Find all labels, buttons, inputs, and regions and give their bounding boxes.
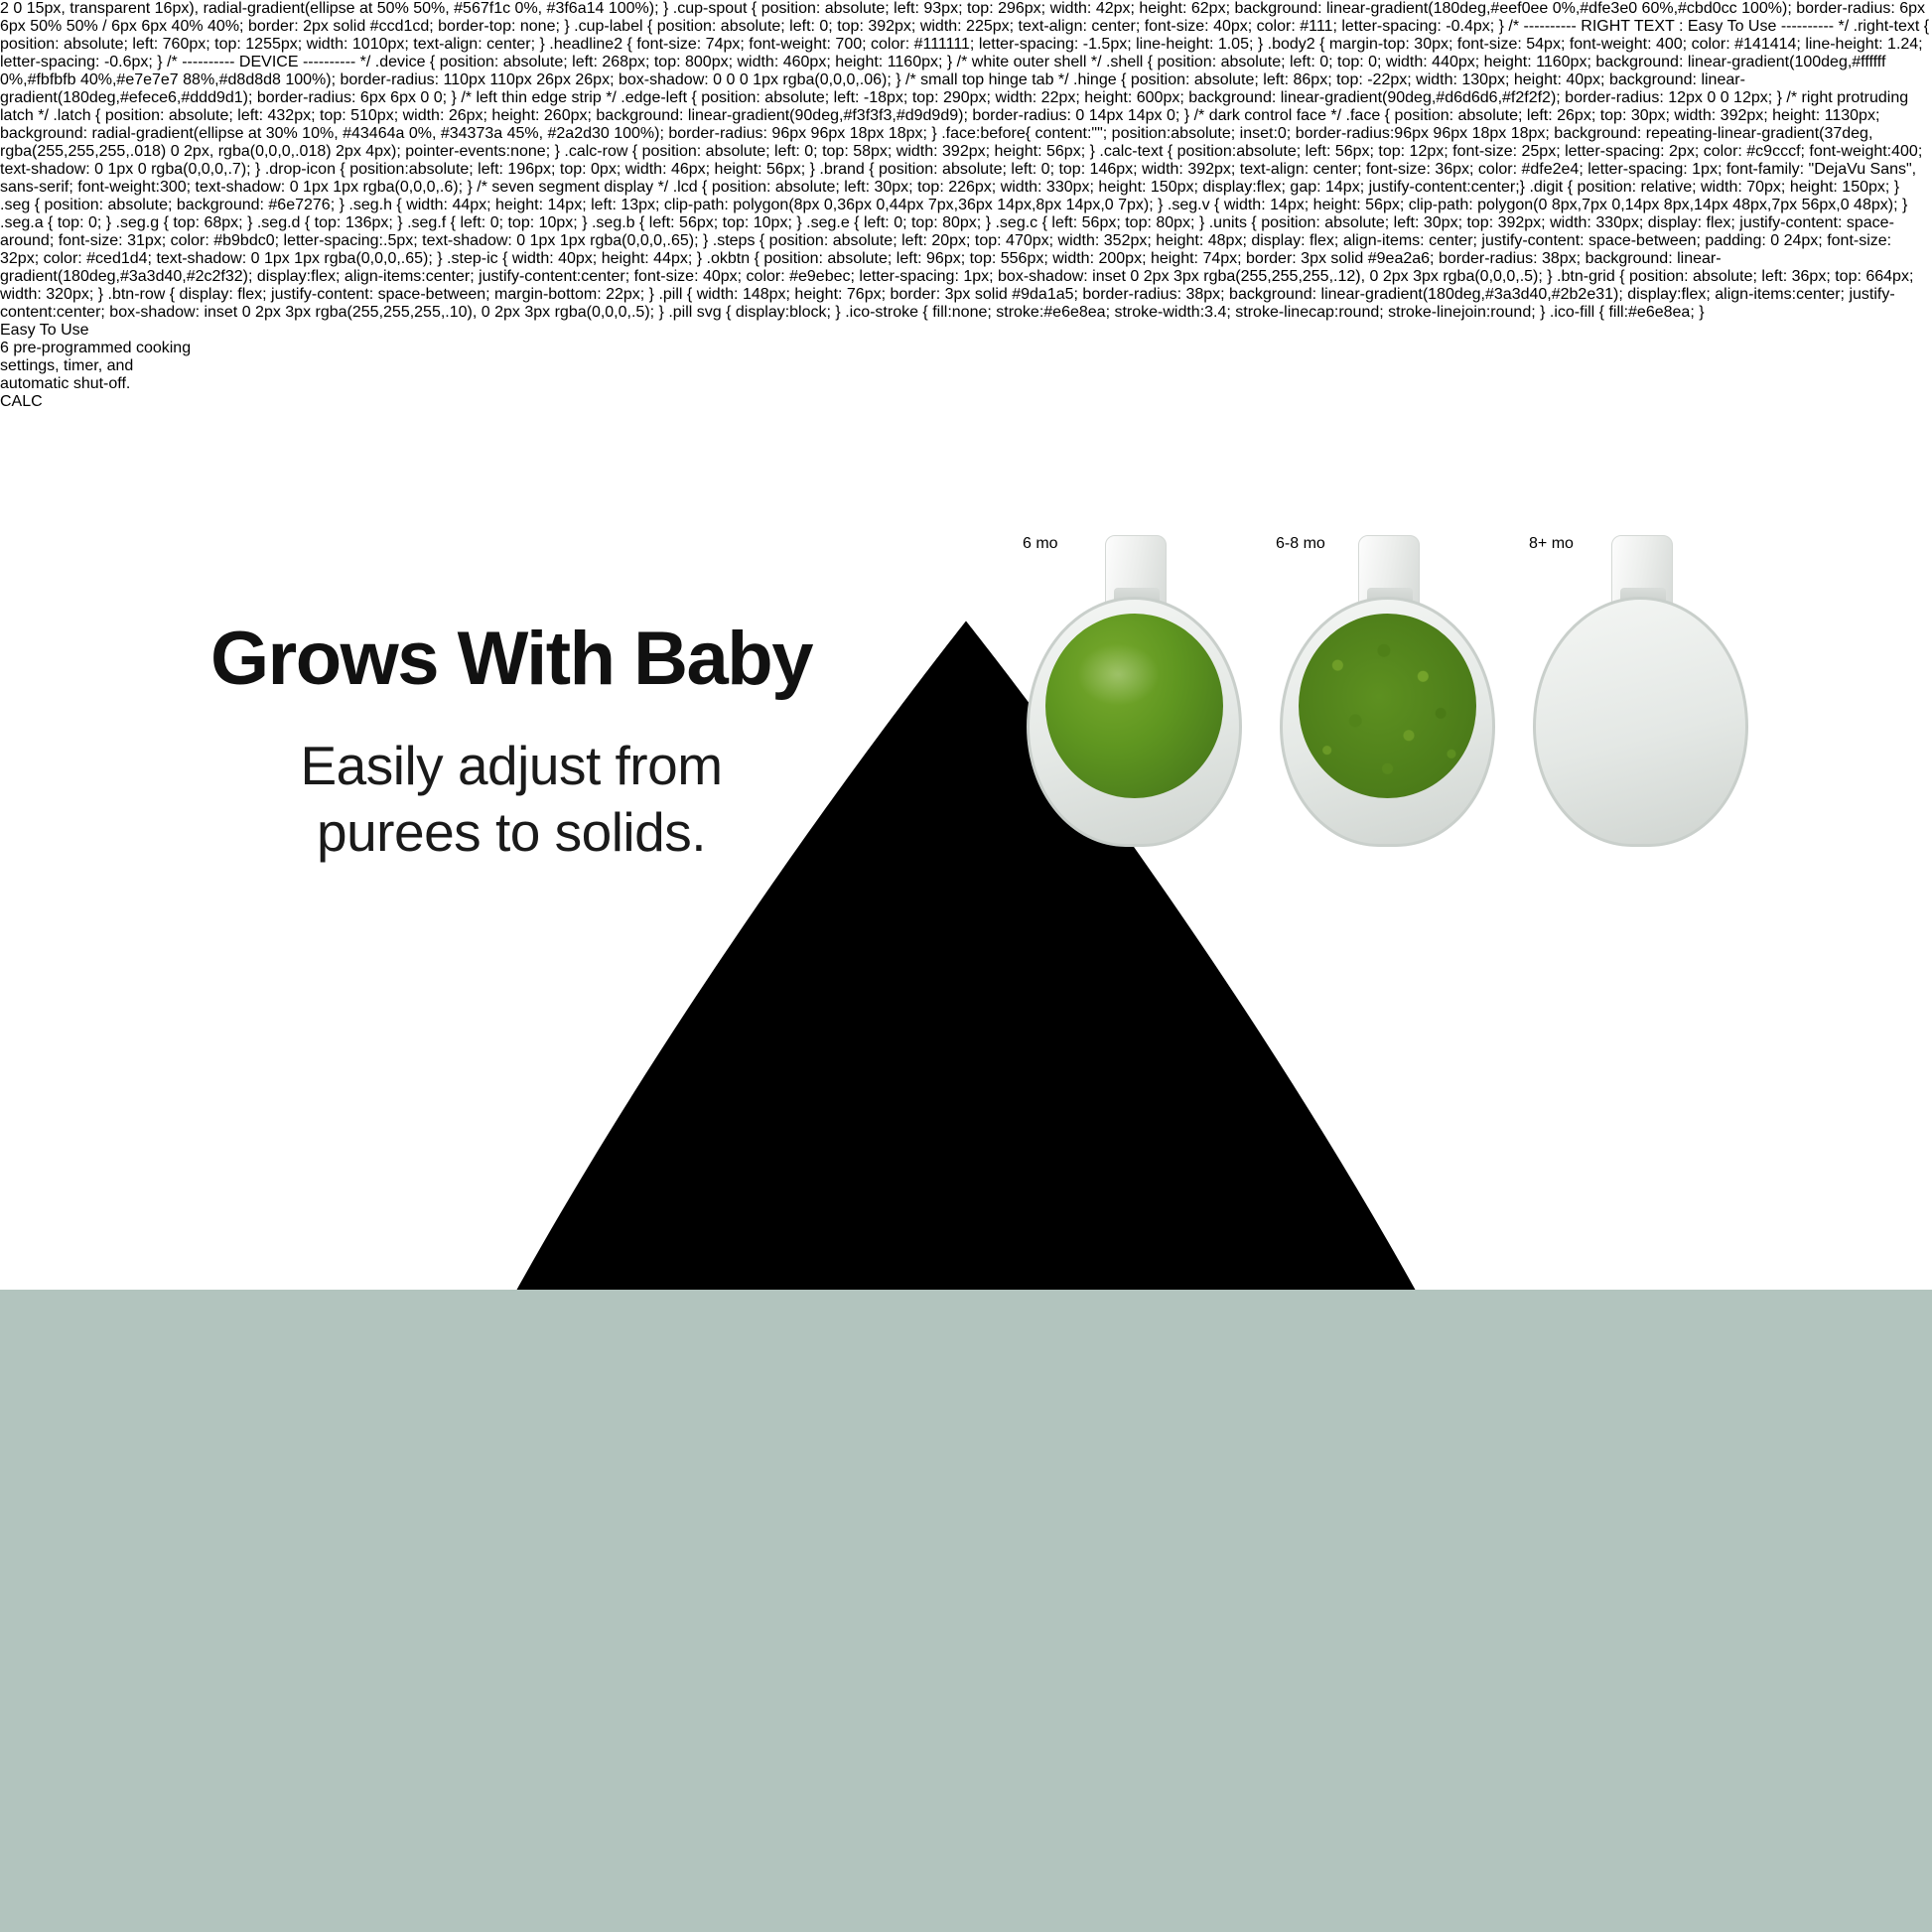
- cup-6-8mo: 6-8 mo: [1276, 535, 1499, 932]
- calc-label: CALC: [0, 393, 1932, 411]
- food-texture-chunky: [1552, 614, 1729, 798]
- cup-8plus-mo: 8+ mo: [1529, 535, 1752, 932]
- subhead-line-1: Easily adjust from: [129, 733, 894, 799]
- page-title-easy-to-use: Easy To Use: [0, 322, 1932, 340]
- food-texture-grain: [1299, 614, 1476, 798]
- body-line-2: settings, timer, and: [0, 357, 1932, 375]
- grows-with-baby-text-block: Grows With Baby Easily adjust from puree…: [129, 620, 894, 866]
- food-texture-puree: [1045, 614, 1223, 798]
- marketing-page: Grows With Baby Easily adjust from puree…: [0, 322, 1932, 1932]
- easy-to-use-body: 6 pre-programmed cooking settings, timer…: [0, 340, 1932, 393]
- cup-bowl: [1027, 597, 1242, 847]
- cup-bowl: [1533, 597, 1748, 847]
- subhead-line-2: purees to solids.: [129, 799, 894, 866]
- grows-with-baby-subhead: Easily adjust from purees to solids.: [129, 733, 894, 866]
- cup-bowl: [1280, 597, 1495, 847]
- body-line-3: automatic shut-off.: [0, 375, 1932, 393]
- texture-progression-cups: 6 mo 6-8 mo 8+ mo: [1013, 535, 1747, 952]
- page-title-grows-with-baby: Grows With Baby: [129, 620, 894, 699]
- sage-background-band: [0, 1290, 1932, 1932]
- easy-to-use-text-block: Easy To Use 6 pre-programmed cooking set…: [0, 322, 1932, 393]
- body-line-1: 6 pre-programmed cooking: [0, 340, 1932, 357]
- cup-6mo: 6 mo: [1023, 535, 1246, 932]
